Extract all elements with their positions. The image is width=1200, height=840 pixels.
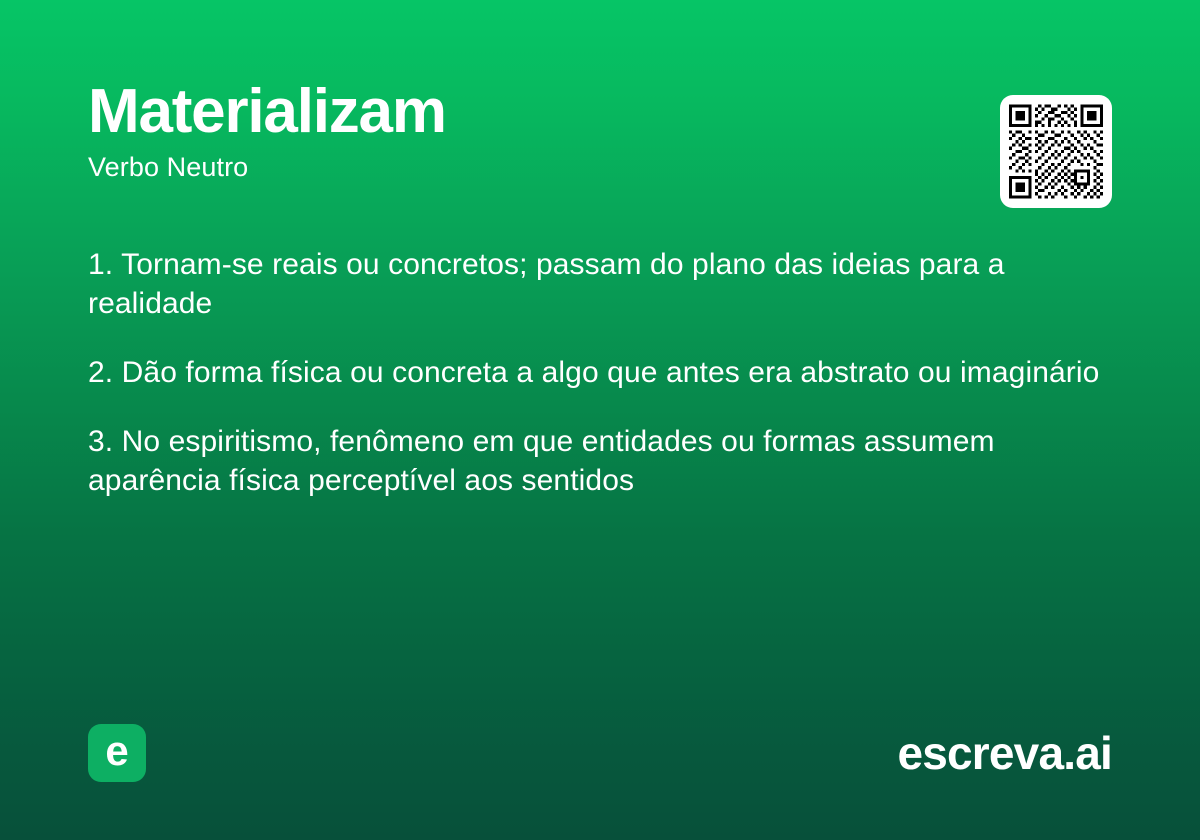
- page-title: Materializam: [88, 80, 1112, 143]
- definition-item: 1. Tornam-se reais ou concretos; passam …: [88, 245, 1108, 323]
- brand-logo-badge: e: [88, 724, 146, 782]
- qr-code-card[interactable]: [1000, 95, 1112, 208]
- qr-code-icon: [1009, 104, 1103, 199]
- definition-list: 1. Tornam-se reais ou concretos; passam …: [88, 245, 1108, 500]
- card-header: Materializam Verbo Neutro: [88, 80, 1112, 183]
- brand-logo-letter: e: [105, 730, 128, 772]
- dictionary-card: Materializam Verbo Neutro: [0, 0, 1200, 840]
- card-footer: e escreva.ai: [88, 724, 1112, 782]
- brand-wordmark: escreva.ai: [897, 730, 1112, 776]
- definition-item: 2. Dão forma física ou concreta a algo q…: [88, 353, 1108, 392]
- definition-item: 3. No espiritismo, fenômeno em que entid…: [88, 422, 1108, 500]
- word-class-label: Verbo Neutro: [88, 153, 1112, 183]
